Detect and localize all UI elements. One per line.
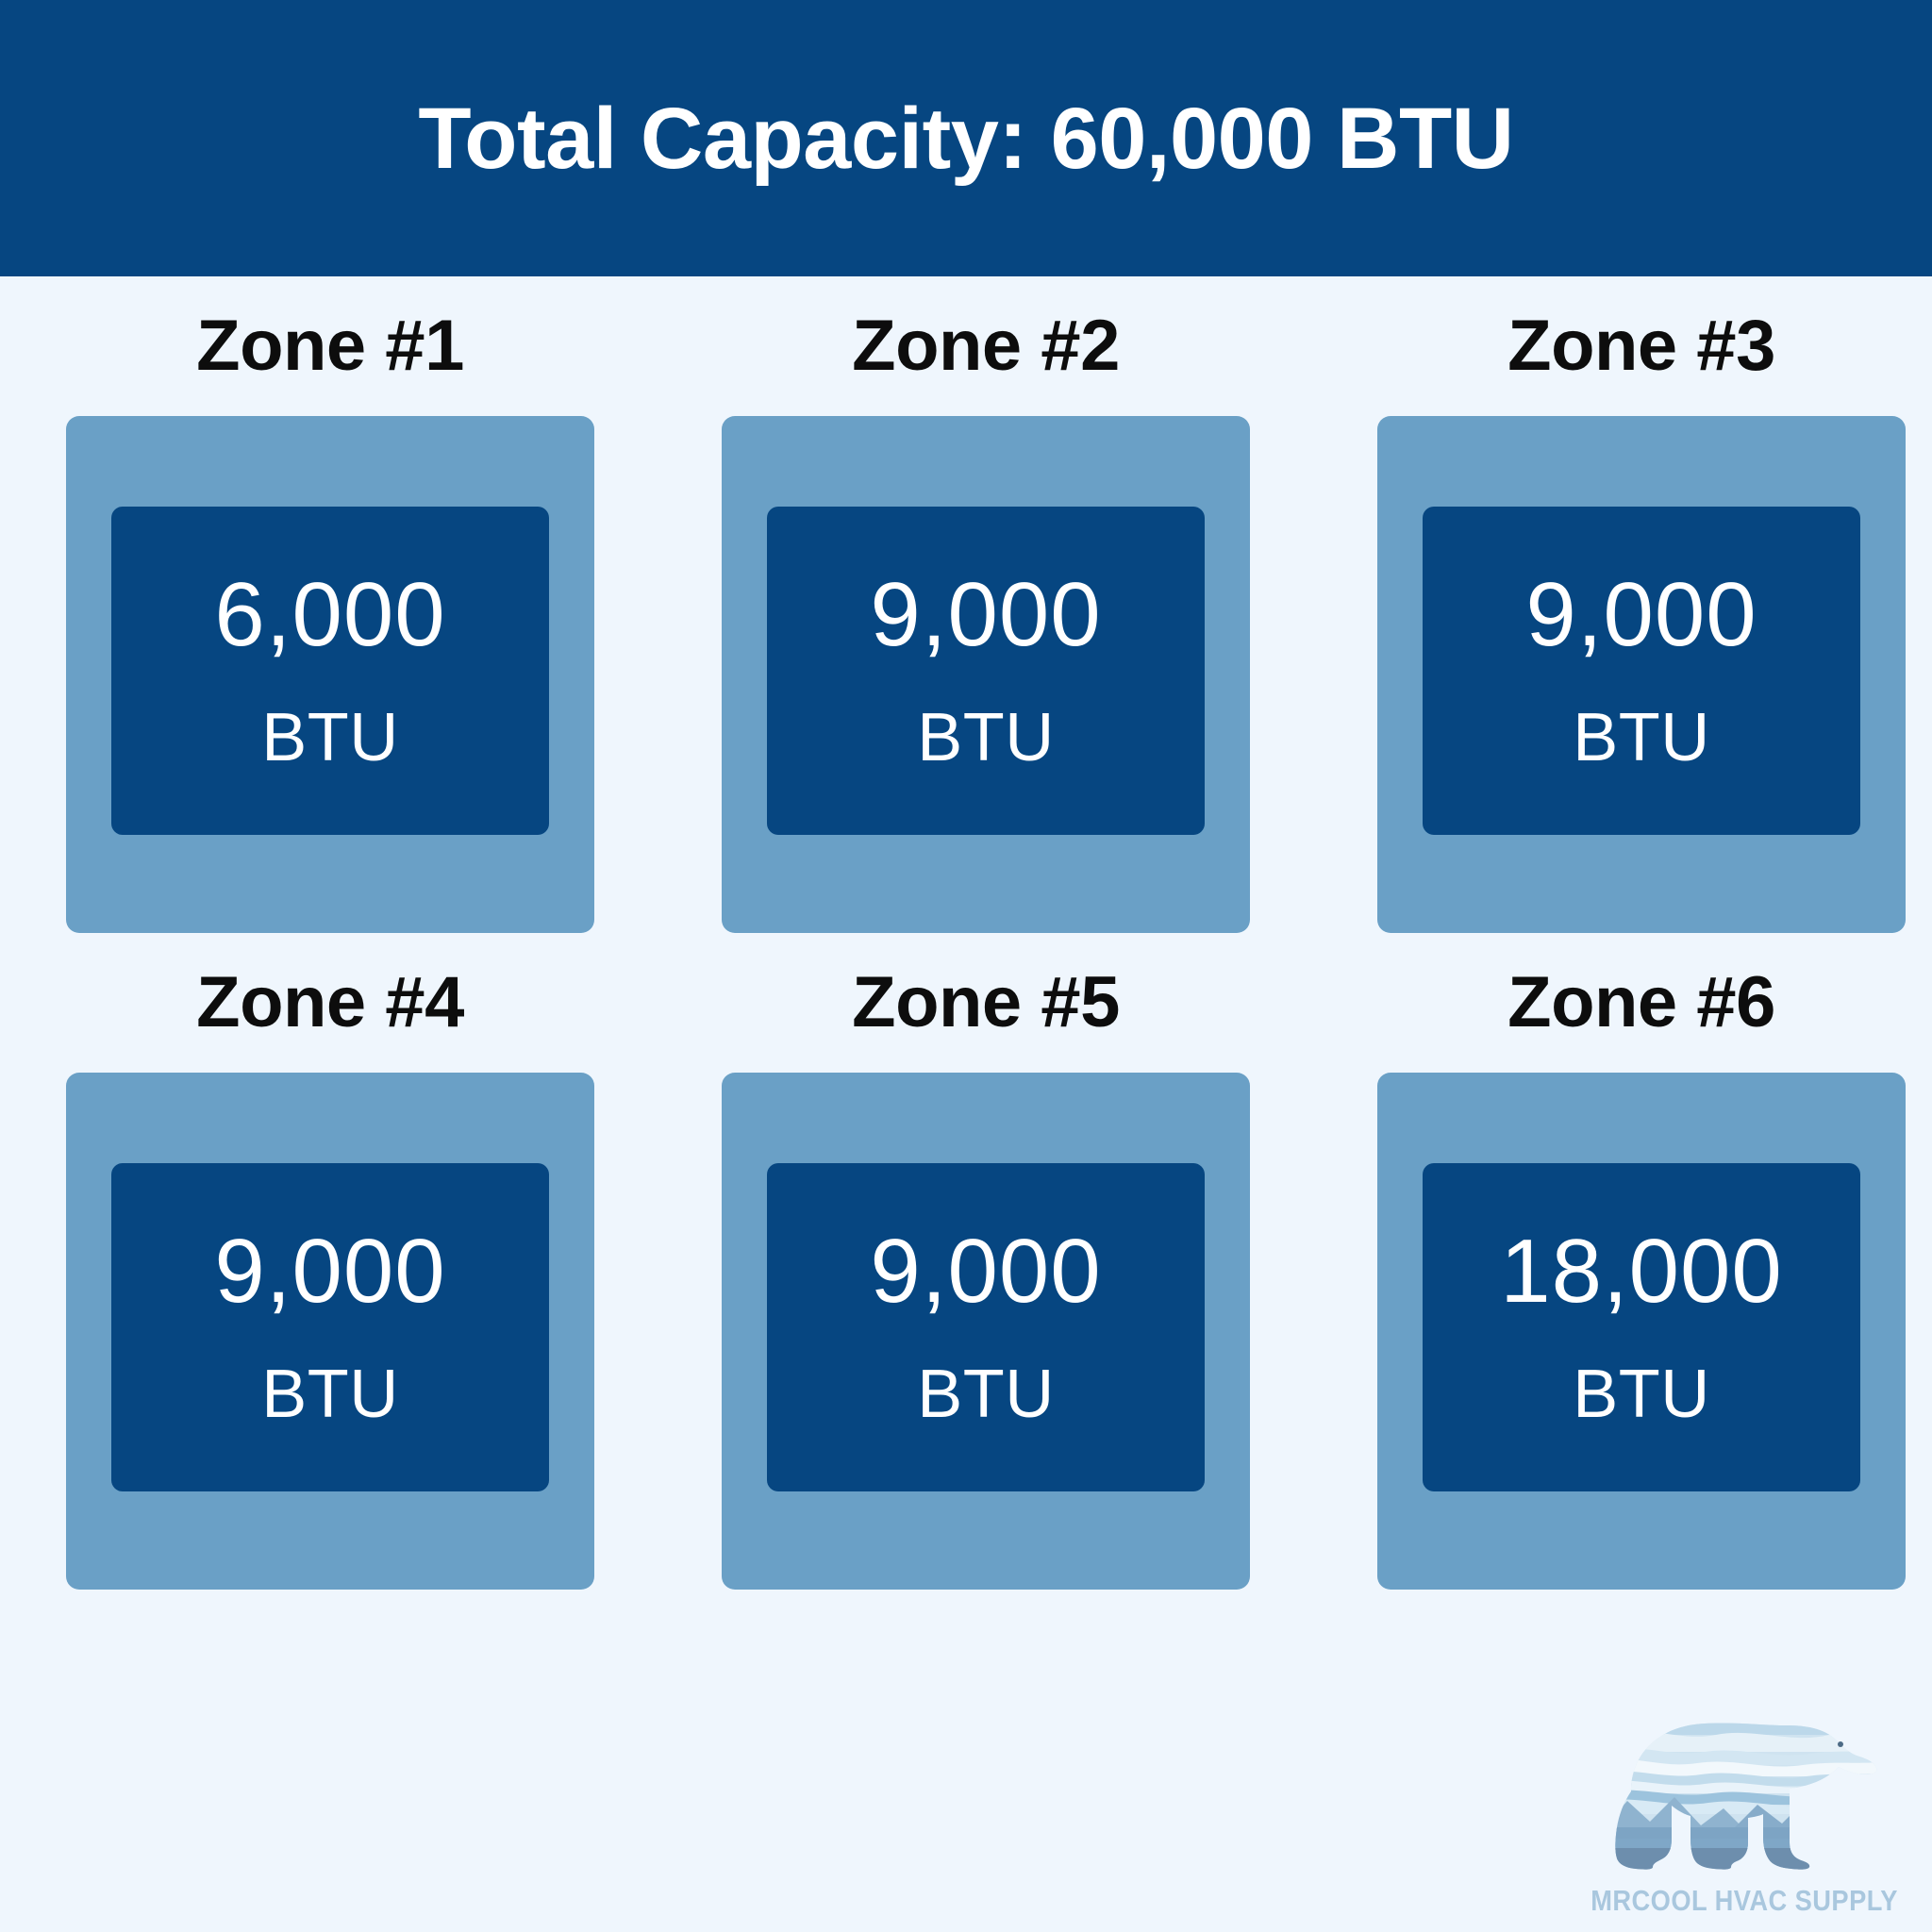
- zone-capacity-box-3: 9,000 BTU: [1423, 507, 1860, 835]
- zone-label-6: Zone #6: [1507, 967, 1775, 1039]
- zone-btu-unit-1: BTU: [261, 704, 399, 772]
- page-title: Total Capacity: 60,000 BTU: [418, 95, 1513, 182]
- polar-bear-icon: [1603, 1710, 1886, 1880]
- zone-card-1[interactable]: 6,000 BTU: [66, 416, 594, 933]
- zone-cell-4: Zone #4 9,000 BTU: [66, 933, 594, 1590]
- logo-wordmark: MRCOOL HVAC SUPPLY: [1591, 1886, 1898, 1915]
- zone-cell-5: Zone #5 9,000 BTU: [722, 933, 1250, 1590]
- zone-capacity-box-5: 9,000 BTU: [767, 1163, 1205, 1491]
- zone-grid: Zone #1 6,000 BTU Zone #2 9,000 BTU Zone…: [66, 276, 1896, 1590]
- zone-capacity-box-6: 18,000 BTU: [1423, 1163, 1860, 1491]
- zone-btu-value-4: 9,000: [214, 1226, 445, 1317]
- zone-cell-2: Zone #2 9,000 BTU: [722, 276, 1250, 933]
- zone-btu-unit-5: BTU: [917, 1360, 1055, 1428]
- zone-label-4: Zone #4: [196, 967, 464, 1039]
- zone-btu-unit-6: BTU: [1573, 1360, 1710, 1428]
- zone-btu-unit-3: BTU: [1573, 704, 1710, 772]
- header-bar: Total Capacity: 60,000 BTU: [0, 0, 1932, 276]
- zone-card-6[interactable]: 18,000 BTU: [1377, 1073, 1906, 1590]
- zone-capacity-box-1: 6,000 BTU: [111, 507, 549, 835]
- zone-card-5[interactable]: 9,000 BTU: [722, 1073, 1250, 1590]
- zone-label-1: Zone #1: [196, 310, 464, 382]
- zone-card-3[interactable]: 9,000 BTU: [1377, 416, 1906, 933]
- zone-cell-3: Zone #3 9,000 BTU: [1377, 276, 1906, 933]
- zone-btu-unit-2: BTU: [917, 704, 1055, 772]
- zone-label-2: Zone #2: [852, 310, 1120, 382]
- zone-card-2[interactable]: 9,000 BTU: [722, 416, 1250, 933]
- zone-btu-value-6: 18,000: [1500, 1226, 1783, 1317]
- zone-btu-unit-4: BTU: [261, 1360, 399, 1428]
- zone-cell-6: Zone #6 18,000 BTU: [1377, 933, 1906, 1590]
- zone-label-5: Zone #5: [852, 967, 1120, 1039]
- zone-btu-value-3: 9,000: [1525, 570, 1757, 660]
- zone-card-4[interactable]: 9,000 BTU: [66, 1073, 594, 1590]
- zone-capacity-box-4: 9,000 BTU: [111, 1163, 549, 1491]
- zone-btu-value-5: 9,000: [870, 1226, 1101, 1317]
- zone-label-3: Zone #3: [1507, 310, 1775, 382]
- brand-logo: MRCOOL HVAC SUPPLY: [1589, 1710, 1900, 1915]
- bear-eye: [1838, 1741, 1843, 1747]
- zone-capacity-box-2: 9,000 BTU: [767, 507, 1205, 835]
- zone-btu-value-1: 6,000: [214, 570, 445, 660]
- zone-btu-value-2: 9,000: [870, 570, 1101, 660]
- zone-cell-1: Zone #1 6,000 BTU: [66, 276, 594, 933]
